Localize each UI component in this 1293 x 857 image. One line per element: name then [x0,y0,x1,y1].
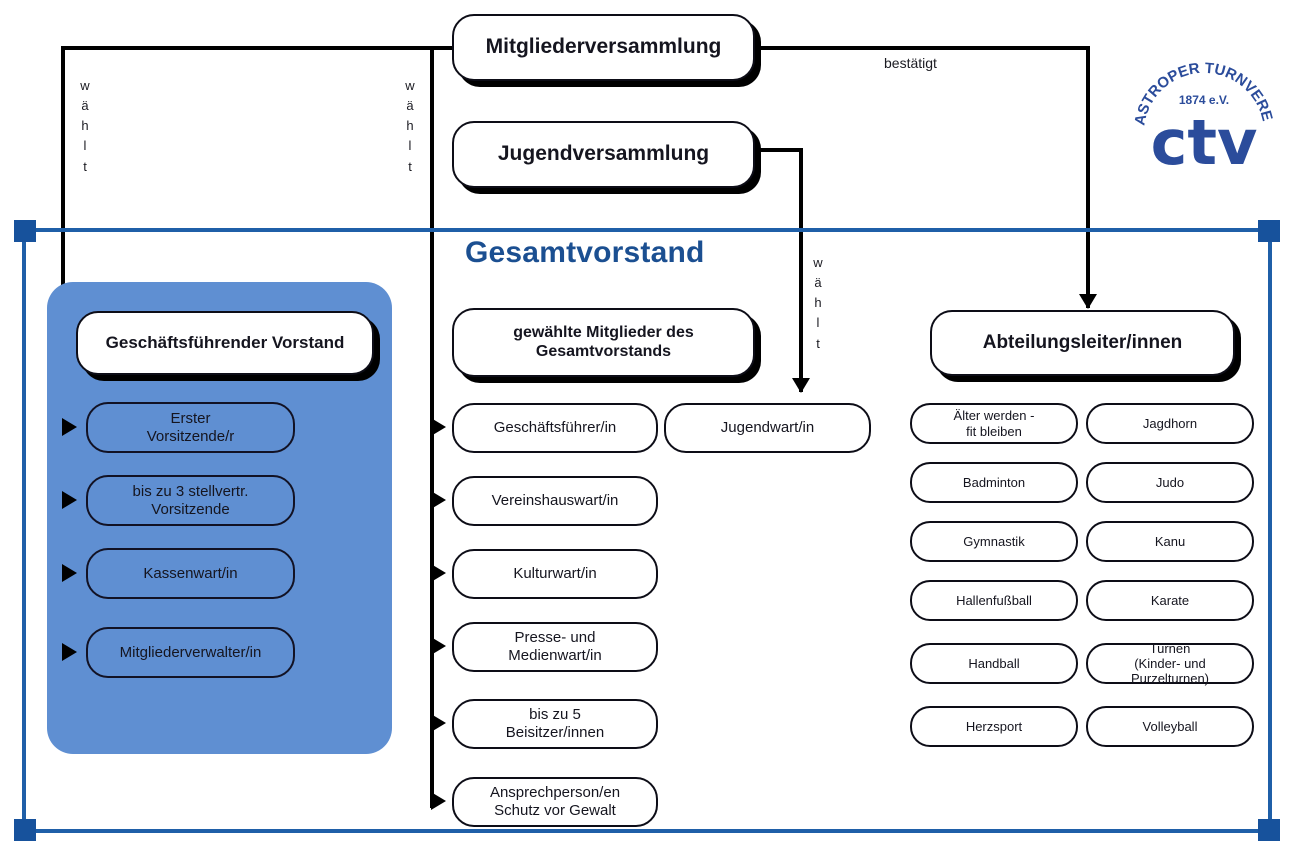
node-label: Hallenfußball [956,593,1032,608]
arrowhead-left-4 [62,643,77,661]
node-abteilungsleiter-header[interactable]: Abteilungsleiter/innen [930,310,1235,376]
node-label: Ansprechperson/en Schutz vor Gewalt [490,784,620,819]
node-label: Jugendwart/in [721,419,814,437]
node-abteilung-aelter-werden[interactable]: Älter werden - fit bleiben [910,403,1078,444]
node-label: Jugendversammlung [498,142,709,167]
node-abteilung-turnen[interactable]: Turnen (Kinder- und Purzelturnen) [1086,643,1254,684]
node-label: Kassenwart/in [143,565,237,583]
node-label: Volleyball [1143,719,1198,734]
node-abteilung-karate[interactable]: Karate [1086,580,1254,621]
node-label: Geschäftsführender Vorstand [106,333,345,353]
node-label: Erster Vorsitzende/r [147,410,235,445]
connector-jv-right [753,148,803,152]
node-abteilung-badminton[interactable]: Badminton [910,462,1078,503]
node-label: Geschäftsführer/in [494,419,617,437]
node-label: Turnen (Kinder- und Purzelturnen) [1094,641,1246,687]
arrowhead-mid-2 [431,491,446,509]
node-label: Kanu [1155,534,1185,549]
arrowhead-mid-1 [431,418,446,436]
node-abteilung-hallenfussball[interactable]: Hallenfußball [910,580,1078,621]
node-jugendversammlung[interactable]: Jugendversammlung [452,121,755,188]
node-label: Badminton [963,475,1025,490]
node-label: Handball [968,656,1019,671]
arrowhead-mid-4 [431,637,446,655]
connector-mv-right-bus [755,46,1090,50]
waehlt-label-middle: w ä h l t [403,76,417,177]
node-abteilung-volleyball[interactable]: Volleyball [1086,706,1254,747]
node-abteilung-handball[interactable]: Handball [910,643,1078,684]
node-beisitzer[interactable]: bis zu 5 Beisitzer/innen [452,699,658,749]
node-presse-medienwart[interactable]: Presse- und Medienwart/in [452,622,658,672]
node-ansprechperson-schutz[interactable]: Ansprechperson/en Schutz vor Gewalt [452,777,658,827]
frame-handle-top-right[interactable] [1258,220,1280,242]
node-label: Mitgliederversammlung [486,35,722,60]
svg-text:1874 e.V.: 1874 e.V. [1179,93,1229,107]
node-label: bis zu 5 Beisitzer/innen [506,706,604,741]
node-kassenwart[interactable]: Kassenwart/in [86,548,295,599]
waehlt-label-left: w ä h l t [78,76,92,177]
svg-text:ctv: ctv [1151,106,1258,179]
node-label: Presse- und Medienwart/in [508,629,601,664]
node-stellvertr-vorsitzende[interactable]: bis zu 3 stellvertr. Vorsitzende [86,475,295,526]
node-abteilung-kanu[interactable]: Kanu [1086,521,1254,562]
node-abteilung-gymnastik[interactable]: Gymnastik [910,521,1078,562]
arrowhead-mid-6 [431,792,446,810]
node-jugendwart[interactable]: Jugendwart/in [664,403,871,453]
node-label: Vereinshauswart/in [492,492,619,510]
node-abteilung-herzsport[interactable]: Herzsport [910,706,1078,747]
node-geschaeftsfuehrender-vorstand-header[interactable]: Geschäftsführender Vorstand [76,311,374,375]
node-mitgliederverwalter[interactable]: Mitgliederverwalter/in [86,627,295,678]
node-label: Judo [1156,475,1184,490]
node-label: gewählte Mitglieder des Gesamtvorstands [513,324,693,362]
node-label: Kulturwart/in [513,565,596,583]
node-kulturwart[interactable]: Kulturwart/in [452,549,658,599]
arrowhead-left-2 [62,491,77,509]
node-erster-vorsitzende[interactable]: Erster Vorsitzende/r [86,402,295,453]
node-geschaeftsfuehrer[interactable]: Geschäftsführer/in [452,403,658,453]
page-title: Gesamtvorstand [465,236,705,270]
frame-handle-bottom-left[interactable] [14,819,36,841]
node-label: Karate [1151,593,1189,608]
frame-handle-bottom-right[interactable] [1258,819,1280,841]
edge-label-bestaetigt: bestätigt [884,55,937,71]
node-label: bis zu 3 stellvertr. Vorsitzende [133,483,249,518]
node-label: Jagdhorn [1143,416,1197,431]
arrowhead-left-1 [62,418,77,436]
arrowhead-mid-3 [431,564,446,582]
node-vereinshauswart[interactable]: Vereinshauswart/in [452,476,658,526]
node-label: Herzsport [966,719,1022,734]
node-label: Abteilungsleiter/innen [983,332,1183,354]
ctv-logo: CASTROPER TURNVEREIN 1874 e.V. ctv [1133,44,1275,184]
node-mitgliederversammlung[interactable]: Mitgliederversammlung [452,14,755,81]
node-gewaehlte-mitglieder-header[interactable]: gewählte Mitglieder des Gesamtvorstands [452,308,755,377]
node-abteilung-jagdhorn[interactable]: Jagdhorn [1086,403,1254,444]
connector-mv-left-bus [61,46,453,50]
node-label: Mitgliederverwalter/in [120,644,262,662]
arrowhead-mid-5 [431,714,446,732]
frame-handle-top-left[interactable] [14,220,36,242]
node-label: Älter werden - fit bleiben [954,408,1035,439]
org-chart-diagram: bestätigt w ä h l t w ä h l t w ä h l t … [0,0,1293,857]
node-label: Gymnastik [963,534,1024,549]
arrowhead-left-3 [62,564,77,582]
node-abteilung-judo[interactable]: Judo [1086,462,1254,503]
